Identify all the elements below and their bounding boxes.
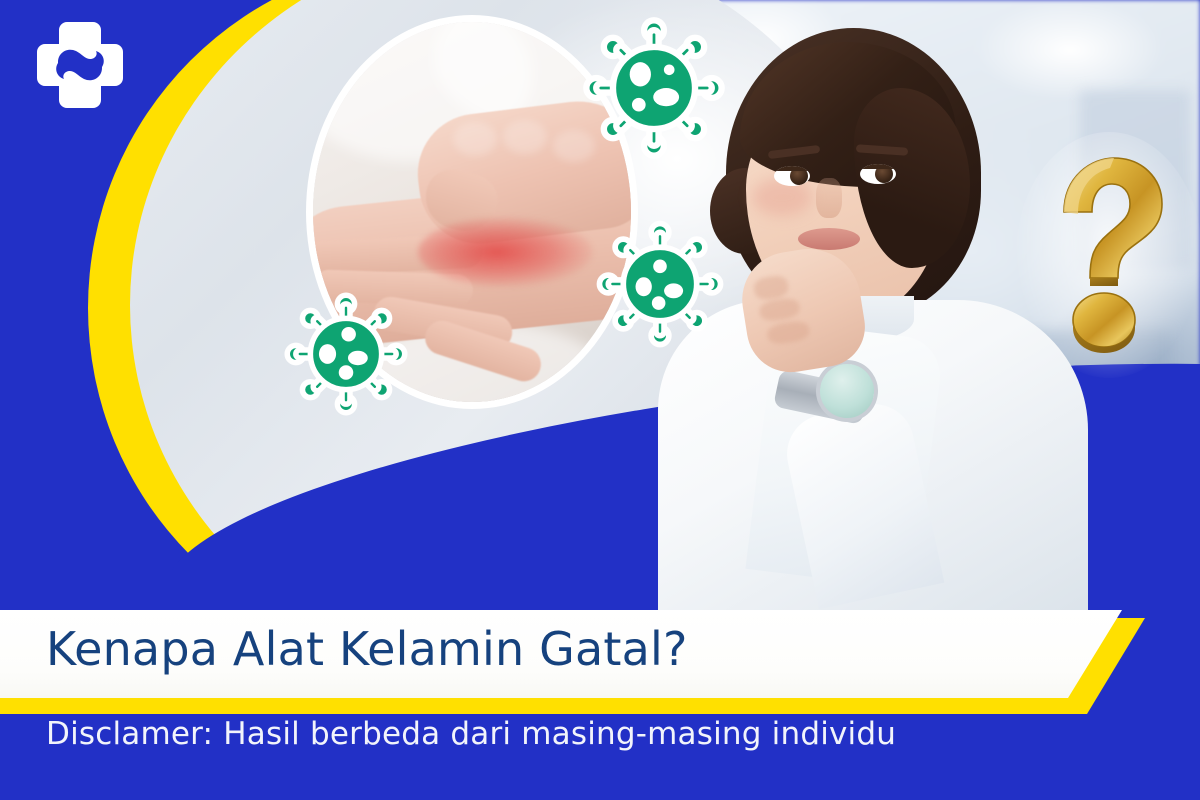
health-promo-banner: Kenapa Alat Kelamin Gatal? Disclamer: Ha… (0, 0, 1200, 800)
page-title: Kenapa Alat Kelamin Gatal? (46, 622, 688, 676)
headline-band: Kenapa Alat Kelamin Gatal? (0, 610, 1145, 706)
virus-icon-top (578, 12, 730, 164)
lips (798, 228, 860, 250)
medical-cross-hands-logo (34, 18, 126, 112)
eye-right (860, 164, 896, 184)
golden-question-mark (1034, 150, 1184, 360)
eyelid-right (860, 164, 896, 169)
hero-area (0, 0, 1200, 610)
knuckle-highlight (503, 120, 547, 154)
virus-icon-bottom-left (280, 288, 412, 420)
irritated-red-patch (418, 217, 593, 287)
nose (816, 178, 842, 218)
eyelid-left (774, 166, 810, 171)
knuckle (753, 274, 790, 301)
eye-left (774, 166, 810, 186)
knuckle-highlight (453, 122, 497, 156)
virus-icon-middle (592, 216, 728, 352)
knuckle (766, 319, 811, 345)
knuckle (758, 297, 801, 323)
disclaimer-text: Disclamer: Hasil berbeda dari masing-mas… (46, 716, 896, 752)
